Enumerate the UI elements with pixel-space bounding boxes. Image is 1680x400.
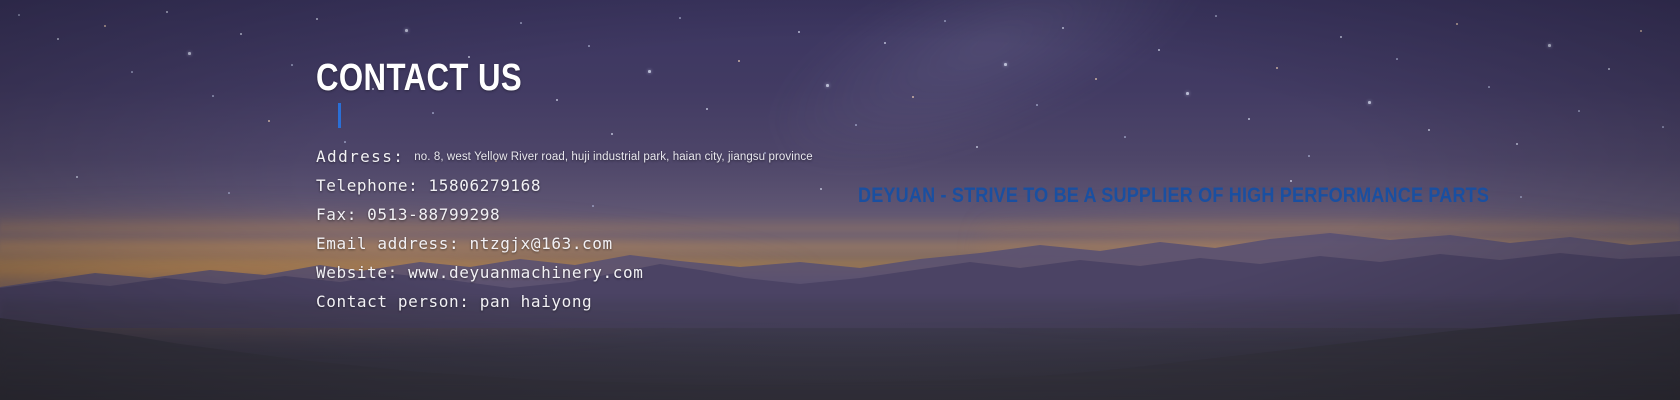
- title-accent-bar: [338, 103, 341, 128]
- contact-banner: CONTACT US Address:no. 8, west Yellow Ri…: [0, 0, 1680, 400]
- contact-website-row[interactable]: Website: www.deyuanmachinery.com: [316, 258, 1016, 287]
- contact-address-row: Address:no. 8, west Yellow River road, h…: [316, 142, 1016, 171]
- company-tagline: DEYUAN - STRIVE TO BE A SUPPLIER OF HIGH…: [858, 185, 1489, 207]
- contact-email-row[interactable]: Email address: ntzgjx@163.com: [316, 229, 1016, 258]
- address-label: Address:: [316, 147, 404, 166]
- page-title: CONTACT US: [316, 58, 522, 98]
- address-value: no. 8, west Yellow River road, huji indu…: [404, 151, 812, 163]
- contact-person-row: Contact person: pan haiyong: [316, 287, 1016, 316]
- contact-details-list: Address:no. 8, west Yellow River road, h…: [316, 142, 1016, 316]
